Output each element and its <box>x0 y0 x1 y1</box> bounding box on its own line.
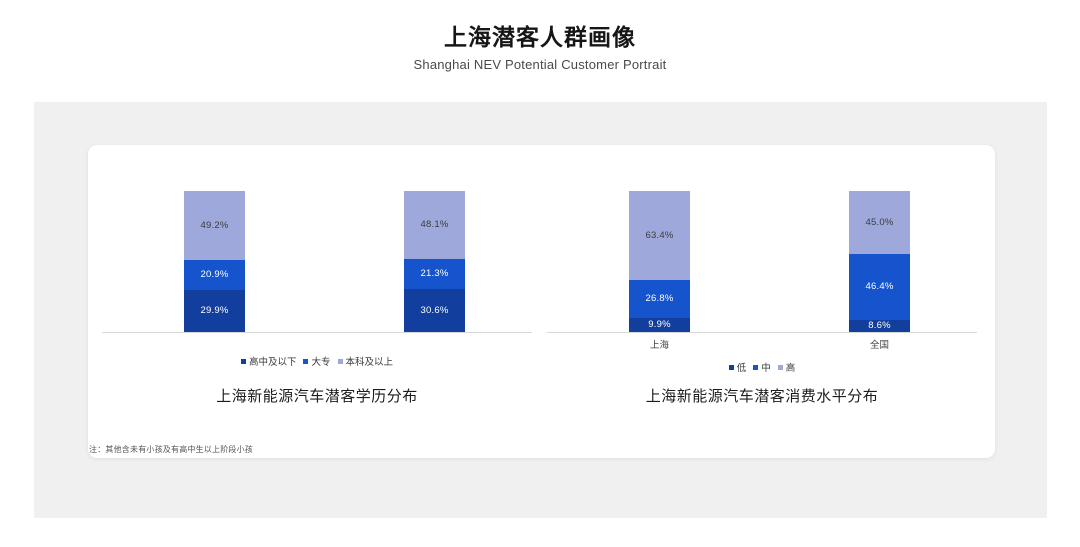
page-subtitle: Shanghai NEV Potential Customer Portrait <box>0 55 1080 75</box>
legend-item-1[interactable]: 大专 <box>303 354 330 368</box>
x-axis-label-shanghai: 上海 <box>629 337 690 351</box>
legend-item-0[interactable]: 高中及以下 <box>241 354 297 368</box>
bar-segment-low: 30.6% <box>404 289 465 332</box>
legend-education: 高中及以下 大专 本科及以上 <box>102 354 532 368</box>
bar-segment-high: 49.2% <box>184 191 245 260</box>
legend-label: 本科及以上 <box>346 354 394 368</box>
chart-education-distribution: 49.2% 20.9% 29.9% 48.1% <box>102 145 532 458</box>
legend-swatch-icon <box>241 359 246 364</box>
chart-caption: 上海新能源汽车潜客消费水平分布 <box>547 385 977 406</box>
bar-stack-shanghai-consumption[interactable]: 63.4% 26.8% 9.9% <box>629 191 690 332</box>
legend-swatch-icon <box>338 359 343 364</box>
legend-label: 高中及以下 <box>249 354 297 368</box>
x-axis-label-national: 全国 <box>849 337 910 351</box>
legend-label: 中 <box>761 360 771 374</box>
bar-segment-mid: 20.9% <box>184 260 245 289</box>
plot-area-consumption: 63.4% 26.8% 9.9% 45.0% <box>547 191 977 332</box>
bar-segment-low: 29.9% <box>184 290 245 332</box>
bar-segment-mid: 46.4% <box>849 254 910 319</box>
legend-swatch-icon <box>303 359 308 364</box>
legend-item-2[interactable]: 本科及以上 <box>338 354 394 368</box>
bar-segment-high: 45.0% <box>849 191 910 254</box>
x-axis-line <box>102 332 532 333</box>
x-axis-line <box>547 332 977 333</box>
legend-label: 高 <box>786 360 796 374</box>
legend-consumption: 低 中 高 <box>547 360 977 374</box>
legend-item-1[interactable]: 中 <box>753 360 771 374</box>
legend-label: 大专 <box>311 354 330 368</box>
bar-segment-high: 48.1% <box>404 191 465 259</box>
legend-item-0[interactable]: 低 <box>729 360 747 374</box>
bar-segment-low: 8.6% <box>849 320 910 332</box>
plot-area-education: 49.2% 20.9% 29.9% 48.1% <box>102 191 532 332</box>
legend-swatch-icon <box>753 365 758 370</box>
bar-segment-mid: 21.3% <box>404 259 465 289</box>
bar-stack-national-education[interactable]: 48.1% 21.3% 30.6% <box>404 191 465 332</box>
charts-container: 49.2% 20.9% 29.9% 48.1% <box>88 145 995 458</box>
page-title: 上海潜客人群画像 <box>0 22 1080 52</box>
legend-swatch-icon <box>778 365 783 370</box>
bar-stack-national-consumption[interactable]: 45.0% 46.4% 8.6% <box>849 191 910 332</box>
footnote: 注：其他含未有小孩及有高中生以上阶段小孩 <box>89 444 253 455</box>
x-axis-labels: 上海 全国 <box>547 335 977 353</box>
legend-label: 低 <box>737 360 747 374</box>
page-heading: 上海潜客人群画像 Shanghai NEV Potential Customer… <box>0 22 1080 75</box>
content-card: 49.2% 20.9% 29.9% 48.1% <box>88 145 995 458</box>
chart-consumption-distribution: 63.4% 26.8% 9.9% 45.0% <box>547 145 977 458</box>
bar-segment-mid: 26.8% <box>629 280 690 318</box>
slide-page: 上海潜客人群画像 Shanghai NEV Potential Customer… <box>0 0 1080 547</box>
legend-item-2[interactable]: 高 <box>778 360 796 374</box>
bar-segment-low: 9.9% <box>629 318 690 332</box>
bar-stack-shanghai-education[interactable]: 49.2% 20.9% 29.9% <box>184 191 245 332</box>
legend-swatch-icon <box>729 365 734 370</box>
bar-segment-high: 63.4% <box>629 191 690 280</box>
chart-caption: 上海新能源汽车潜客学历分布 <box>102 385 532 406</box>
